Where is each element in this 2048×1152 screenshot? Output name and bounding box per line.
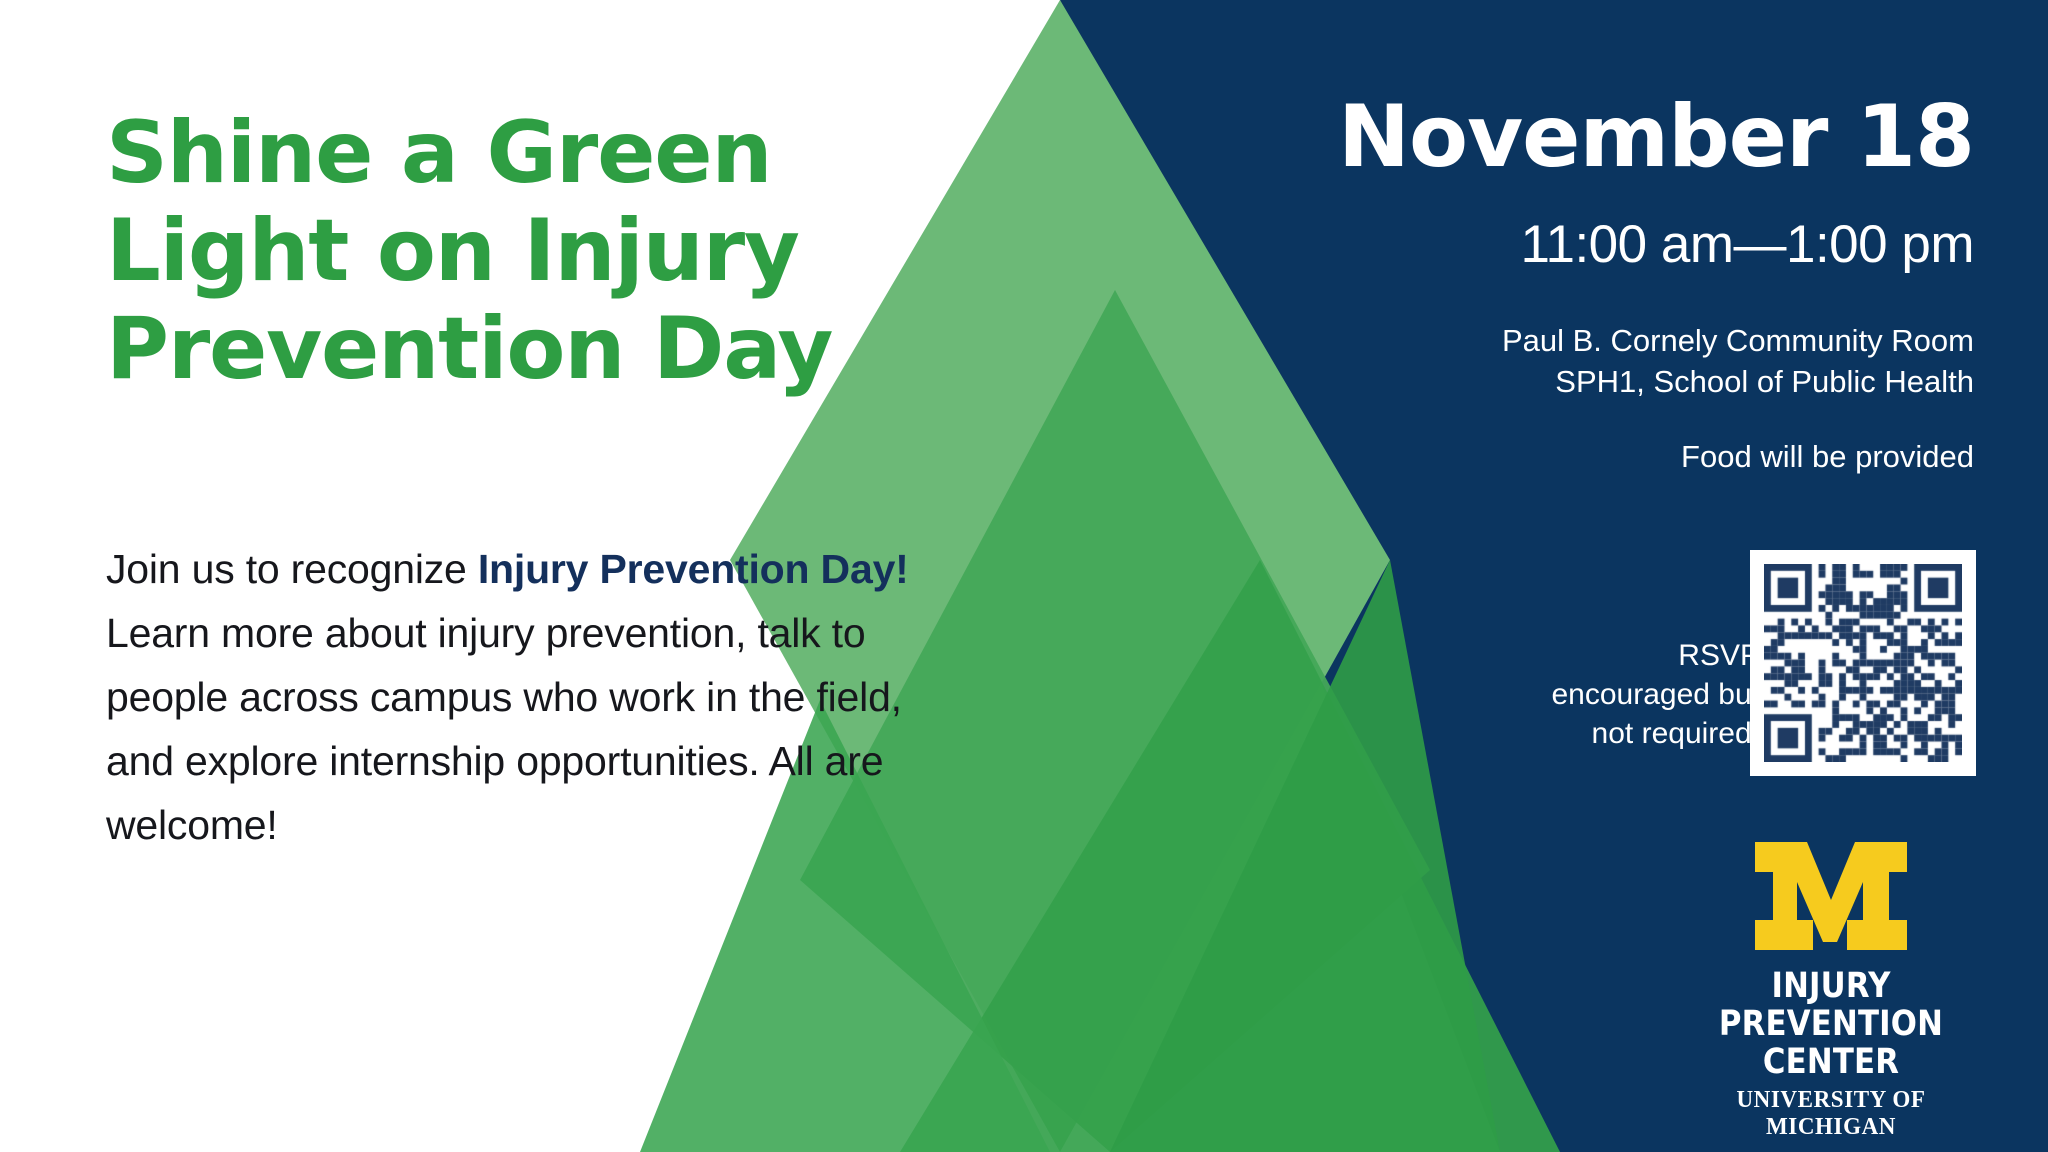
body-emphasis: Injury Prevention Day! <box>478 546 909 592</box>
venue-building: SPH1, School of Public Health <box>1502 361 1974 402</box>
organization-logo: INJURY PREVENTION CENTER UNIVERSITY OF M… <box>1688 838 1974 1141</box>
left-content-panel: Shine a Green Light on Injury Prevention… <box>0 0 900 1152</box>
body-paragraph: Join us to recognize Injury Prevention D… <box>106 538 918 858</box>
logo-subtitle: UNIVERSITY OF MICHIGAN <box>1694 1087 1969 1141</box>
logo-name: INJURY PREVENTION CENTER <box>1705 968 1957 1081</box>
qr-code-image[interactable] <box>1764 564 1962 762</box>
block-m-icon <box>1751 838 1911 954</box>
qr-code[interactable] <box>1750 550 1976 776</box>
logo-name-line-1: INJURY PREVENTION <box>1705 968 1957 1044</box>
page-title: Shine a Green Light on Injury Prevention… <box>106 104 906 398</box>
body-rest: Learn more about injury prevention, talk… <box>106 610 902 848</box>
event-flyer: Shine a Green Light on Injury Prevention… <box>0 0 2048 1152</box>
rsvp-note: RSVP encouraged but not required. <box>1530 636 1760 753</box>
event-date: November 18 <box>1338 94 1974 180</box>
food-note: Food will be provided <box>1681 438 1974 475</box>
event-venue: Paul B. Cornely Community Room SPH1, Sch… <box>1502 320 1974 402</box>
right-details-panel: November 18 11:00 am—1:00 pm Paul B. Cor… <box>948 0 2048 1152</box>
event-time: 11:00 am—1:00 pm <box>1520 218 1974 271</box>
body-lead: Join us to recognize <box>106 546 478 592</box>
venue-room: Paul B. Cornely Community Room <box>1502 320 1974 361</box>
logo-name-line-2: CENTER <box>1705 1044 1957 1082</box>
